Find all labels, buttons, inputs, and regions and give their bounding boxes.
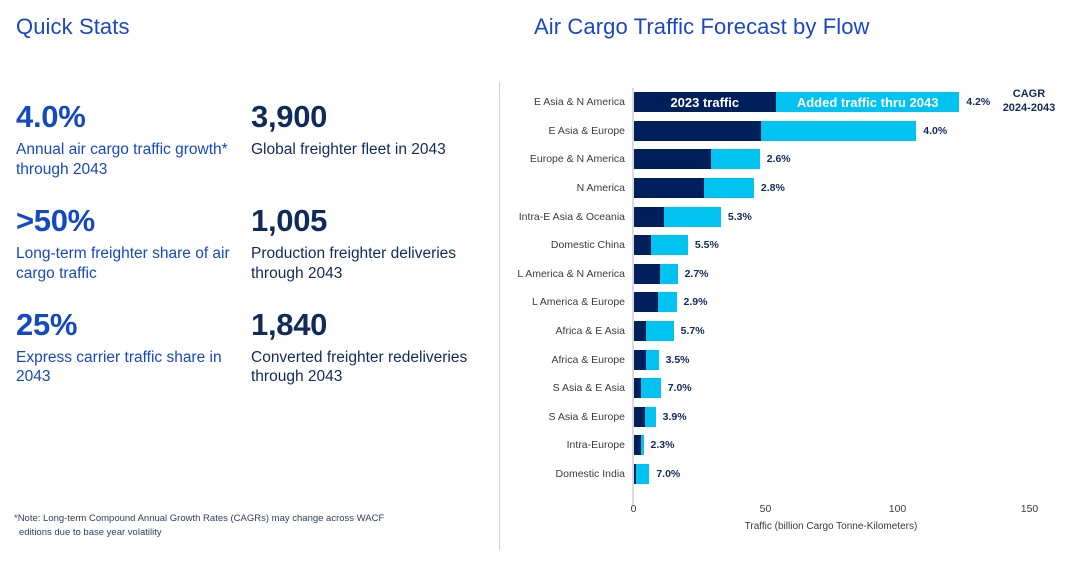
stat-value: 3,900 xyxy=(251,100,474,134)
bar-category-label: Intra-Europe xyxy=(567,439,625,451)
stacked-bar[interactable] xyxy=(634,235,688,255)
stacked-bar[interactable] xyxy=(634,121,917,141)
cagr-value: 2.3% xyxy=(651,439,675,451)
stacked-bar[interactable] xyxy=(634,350,659,370)
bar-category-label: Domestic India xyxy=(556,468,625,480)
bar-category-label: E Asia & N America xyxy=(534,96,625,108)
bar-row[interactable]: Europe & N America2.6% xyxy=(500,145,1080,174)
bar-category-label: Intra-E Asia & Oceania xyxy=(519,211,625,223)
stat-card: 3,900Global freighter fleet in 2043 xyxy=(251,100,486,180)
page-title: Quick Stats xyxy=(16,14,130,40)
bar-row[interactable]: L America & Europe2.9% xyxy=(500,288,1080,317)
x-axis-caption: Traffic (billion Cargo Tonne-Kilometers) xyxy=(745,521,918,532)
x-axis-tick: 150 xyxy=(1021,503,1039,515)
stat-card: 25%Express carrier traffic share in 2043 xyxy=(16,308,251,388)
cagr-value: 2.9% xyxy=(684,296,708,308)
cagr-value: 2.8% xyxy=(761,182,785,194)
bar-segment-2023-traffic[interactable]: 2023 traffic xyxy=(634,92,777,112)
stat-value: 4.0% xyxy=(16,100,239,134)
bar-segment-added-traffic[interactable] xyxy=(761,121,916,141)
stat-row: 4.0%Annual air cargo traffic growth* thr… xyxy=(16,100,486,180)
x-axis-tick: 50 xyxy=(760,503,772,515)
bar-row[interactable]: S Asia & Europe3.9% xyxy=(500,403,1080,432)
bar-segment-added-traffic[interactable] xyxy=(636,464,649,484)
bar-row[interactable]: Domestic India7.0% xyxy=(500,460,1080,489)
bar-category-label: S Asia & E Asia xyxy=(553,382,625,394)
stacked-bar[interactable] xyxy=(634,149,760,169)
bar-segment-2023-traffic[interactable] xyxy=(634,121,761,141)
bar-segment-added-traffic[interactable] xyxy=(646,321,673,341)
cagr-value: 5.3% xyxy=(728,211,752,223)
bar-segment-2023-traffic[interactable] xyxy=(634,435,642,455)
cagr-value: 7.0% xyxy=(656,468,680,480)
chart-area: CAGR 2024-2043 E Asia & N America2023 tr… xyxy=(500,88,1080,508)
stacked-bar[interactable] xyxy=(634,435,644,455)
stat-row: >50%Long-term freighter share of air car… xyxy=(16,204,486,284)
chart-panel: Air Cargo Traffic Forecast by Flow CAGR … xyxy=(500,0,1080,565)
stat-label: Express carrier traffic share in 2043 xyxy=(16,348,239,388)
stacked-bar[interactable] xyxy=(634,464,650,484)
bar-segment-2023-traffic[interactable] xyxy=(634,407,645,427)
bar-segment-added-traffic[interactable] xyxy=(660,264,678,284)
footnote-line-2: editions due to base year volatility xyxy=(14,526,444,540)
cagr-value: 2.7% xyxy=(685,268,709,280)
x-axis-tick: 100 xyxy=(889,503,907,515)
stacked-bar[interactable] xyxy=(634,178,754,198)
cagr-value: 4.0% xyxy=(923,125,947,137)
bar-row[interactable]: Intra-Europe2.3% xyxy=(500,431,1080,460)
bar-rows: E Asia & N America2023 trafficAdded traf… xyxy=(500,88,1080,488)
chart-title: Air Cargo Traffic Forecast by Flow xyxy=(534,14,870,40)
stacked-bar[interactable] xyxy=(634,207,721,227)
bar-row[interactable]: N America2.8% xyxy=(500,174,1080,203)
stat-grid: 4.0%Annual air cargo traffic growth* thr… xyxy=(16,100,486,411)
bar-category-label: S Asia & Europe xyxy=(549,411,625,423)
bar-category-label: L America & N America xyxy=(517,268,625,280)
bar-category-label: N America xyxy=(577,182,625,194)
cagr-value: 3.9% xyxy=(663,411,687,423)
stat-card: 1,840Converted freighter redeliveries th… xyxy=(251,308,486,388)
stat-label: Converted freighter redeliveries through… xyxy=(251,348,474,388)
bar-segment-2023-traffic[interactable] xyxy=(634,235,651,255)
quick-stats-panel: Quick Stats 4.0%Annual air cargo traffic… xyxy=(0,0,499,565)
bar-segment-added-traffic[interactable] xyxy=(651,235,688,255)
bar-segment-added-traffic[interactable] xyxy=(711,149,760,169)
bar-row[interactable]: E Asia & N America2023 trafficAdded traf… xyxy=(500,88,1080,117)
x-axis: Traffic (billion Cargo Tonne-Kilometers)… xyxy=(500,503,1080,553)
bar-category-label: Europe & N America xyxy=(530,153,625,165)
bar-segment-added-traffic[interactable] xyxy=(704,178,754,198)
bar-category-label: Africa & E Asia xyxy=(556,325,625,337)
bar-segment-added-traffic[interactable] xyxy=(641,435,643,455)
stat-card: 1,005Production freighter deliveries thr… xyxy=(251,204,486,284)
cagr-value: 5.7% xyxy=(681,325,705,337)
stacked-bar[interactable]: 2023 trafficAdded traffic thru 2043 xyxy=(634,92,960,112)
bar-row[interactable]: E Asia & Europe4.0% xyxy=(500,117,1080,146)
stat-value: 1,840 xyxy=(251,308,474,342)
bar-segment-added-traffic[interactable] xyxy=(645,407,656,427)
bar-segment-2023-traffic[interactable] xyxy=(634,321,647,341)
bar-segment-2023-traffic[interactable] xyxy=(634,378,641,398)
stacked-bar[interactable] xyxy=(634,378,661,398)
bar-segment-2023-traffic[interactable] xyxy=(634,149,711,169)
bar-segment-added-traffic[interactable] xyxy=(658,292,677,312)
bar-row[interactable]: Intra-E Asia & Oceania5.3% xyxy=(500,202,1080,231)
stat-label: Long-term freighter share of air cargo t… xyxy=(16,244,239,284)
bar-category-label: L America & Europe xyxy=(532,296,625,308)
stat-card: >50%Long-term freighter share of air car… xyxy=(16,204,251,284)
stacked-bar[interactable] xyxy=(634,407,656,427)
cagr-value: 7.0% xyxy=(668,382,692,394)
stacked-bar[interactable] xyxy=(634,292,677,312)
slide-root: Quick Stats 4.0%Annual air cargo traffic… xyxy=(0,0,1080,565)
bar-row[interactable]: L America & N America2.7% xyxy=(500,260,1080,289)
stat-label: Global freighter fleet in 2043 xyxy=(251,140,474,160)
x-axis-tick: 0 xyxy=(631,503,637,515)
bar-category-label: Domestic China xyxy=(551,239,625,251)
cagr-value: 5.5% xyxy=(695,239,719,251)
bar-segment-2023-traffic[interactable] xyxy=(634,264,660,284)
bar-segment-added-traffic[interactable] xyxy=(646,350,659,370)
bar-segment-added-traffic[interactable] xyxy=(641,378,661,398)
stat-label: Production freighter deliveries through … xyxy=(251,244,474,284)
bar-segment-2023-traffic[interactable] xyxy=(634,207,664,227)
bar-row[interactable]: Africa & E Asia5.7% xyxy=(500,317,1080,346)
stat-value: 1,005 xyxy=(251,204,474,238)
stat-row: 25%Express carrier traffic share in 2043… xyxy=(16,308,486,388)
bar-row[interactable]: S Asia & E Asia7.0% xyxy=(500,374,1080,403)
bar-segment-added-traffic[interactable]: Added traffic thru 2043 xyxy=(776,92,959,112)
bar-segment-added-traffic[interactable] xyxy=(664,207,721,227)
bar-category-label: E Asia & Europe xyxy=(549,125,625,137)
bar-category-label: Africa & Europe xyxy=(551,354,625,366)
stat-card: 4.0%Annual air cargo traffic growth* thr… xyxy=(16,100,251,180)
stacked-bar[interactable] xyxy=(634,264,678,284)
bar-row[interactable]: Domestic China5.5% xyxy=(500,231,1080,260)
cagr-value: 4.2% xyxy=(966,96,990,108)
stat-value: 25% xyxy=(16,308,239,342)
bar-segment-2023-traffic[interactable] xyxy=(634,178,704,198)
footnote-line-1: *Note: Long-term Compound Annual Growth … xyxy=(14,513,384,524)
bar-segment-2023-traffic[interactable] xyxy=(634,292,658,312)
bar-row[interactable]: Africa & Europe3.5% xyxy=(500,345,1080,374)
footnote: *Note: Long-term Compound Annual Growth … xyxy=(14,512,444,541)
stacked-bar[interactable] xyxy=(634,321,674,341)
cagr-value: 2.6% xyxy=(767,153,791,165)
stat-value: >50% xyxy=(16,204,239,238)
stat-label: Annual air cargo traffic growth* through… xyxy=(16,140,239,180)
cagr-value: 3.5% xyxy=(666,354,690,366)
bar-segment-2023-traffic[interactable] xyxy=(634,350,646,370)
